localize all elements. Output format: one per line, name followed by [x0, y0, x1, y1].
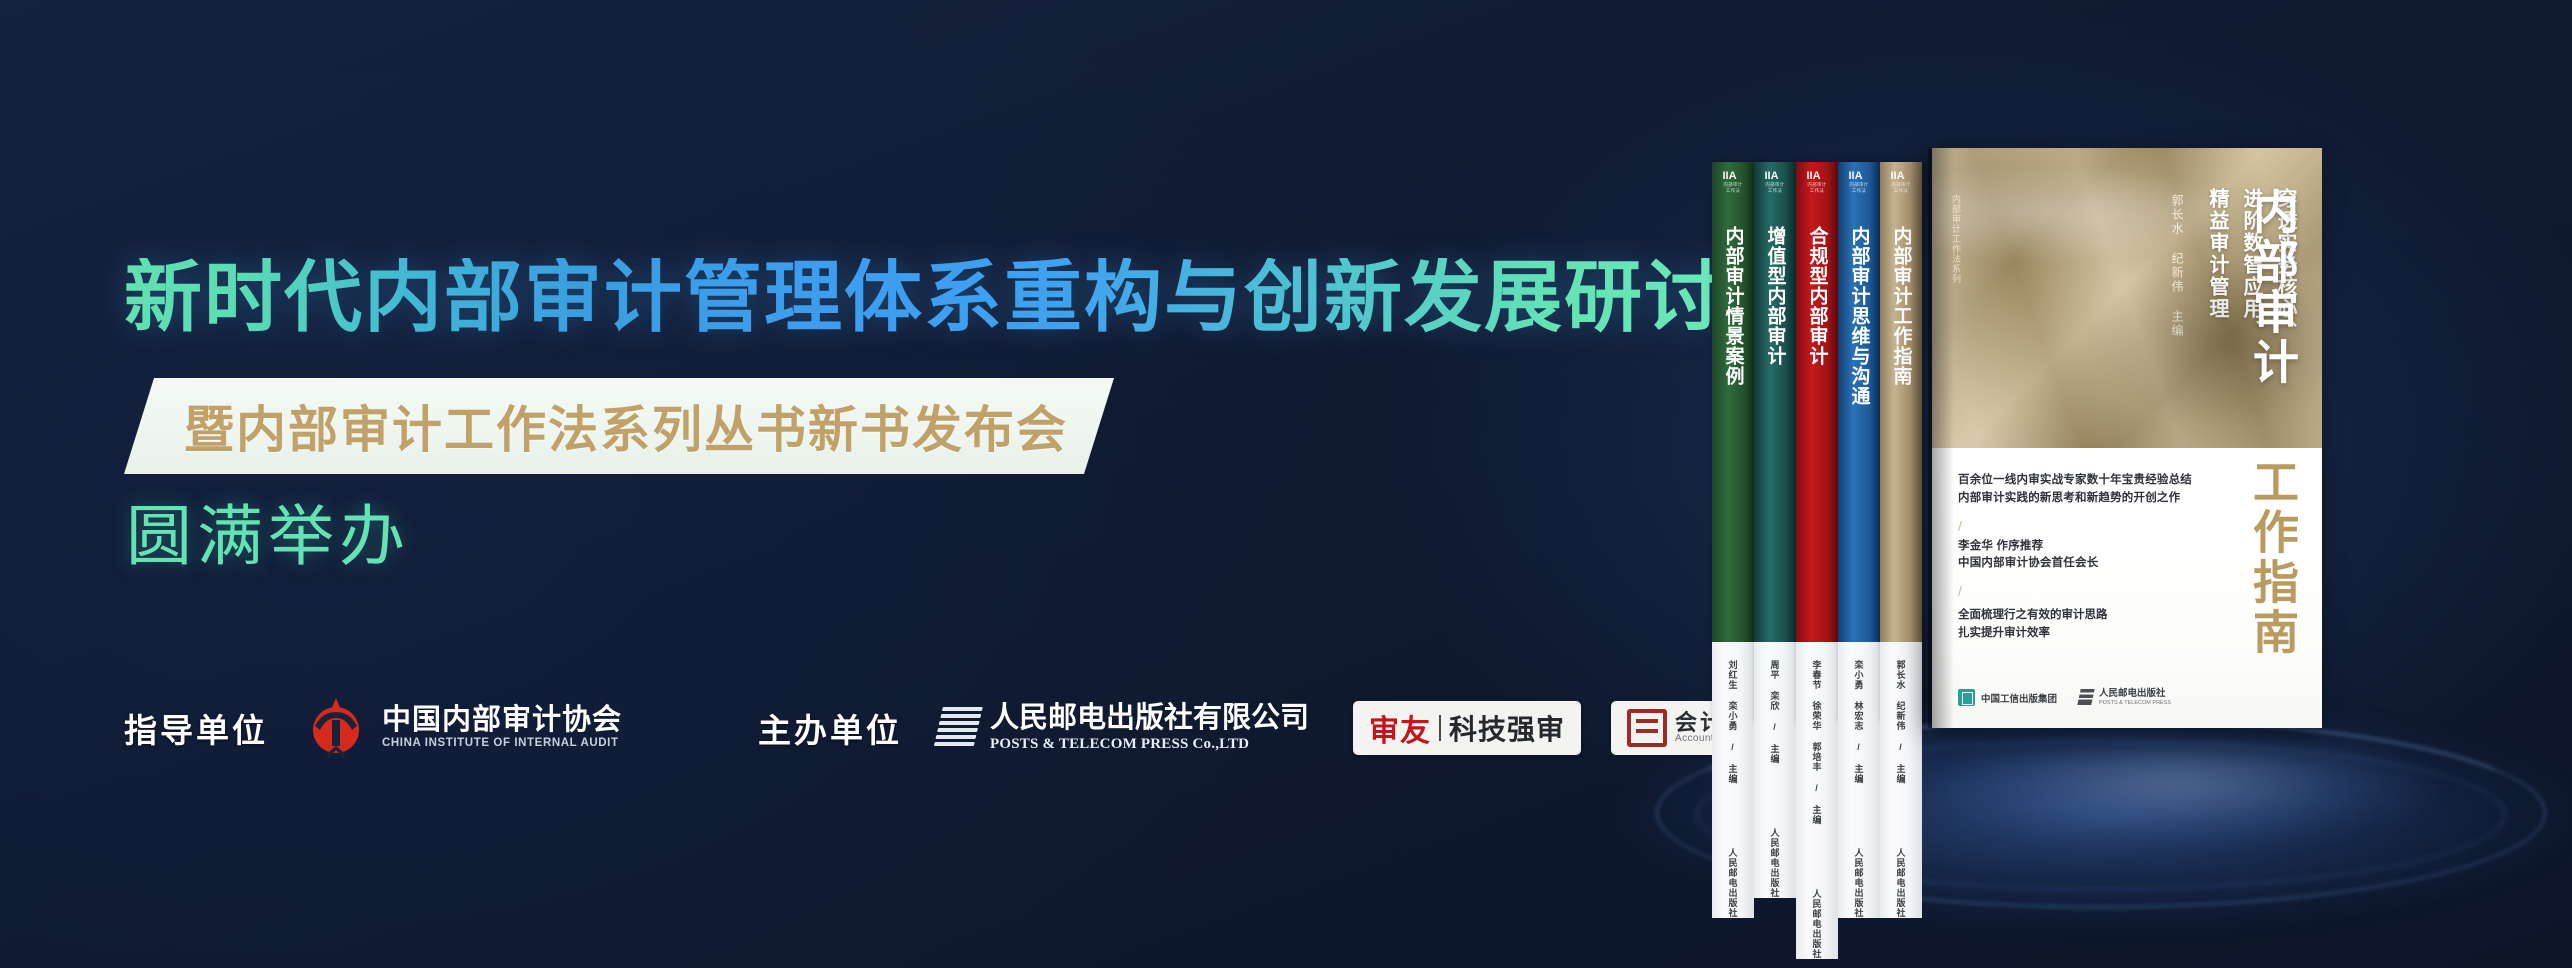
cover-publisher-house: 人民邮电出版社 [2099, 689, 2171, 699]
slash-divider-icon: / [1958, 583, 2208, 599]
cover-benefit-line2: 扎实提升审计效率 [1958, 624, 2208, 642]
ciia-name-cn: 中国内部审计协会 [382, 705, 622, 736]
host-unit-label: 主办单位 [758, 704, 902, 752]
book-spine: IIA内部审计工作法 内部审计工作指南 郭长水 纪新伟 / 主编 人民邮电出版社 [1880, 162, 1922, 722]
book-spines: IIA内部审计工作法 内部审计情景案例 刘红生 栾小勇 / 主编 人民邮电出版社… [1712, 162, 1922, 722]
spine-author: 栾小勇 林宏志 / 主编 [1853, 660, 1866, 784]
shenyou-slogan: 科技强审 [1449, 708, 1565, 748]
book-spine: IIA内部审计工作法 合规型内部审计 李春节 徐荣华 郭培丰 / 主编 人民邮电… [1796, 162, 1838, 722]
ciia-logo: 中国内部审计协会 CHINA INSTITUTE OF INTERNAL AUD… [304, 696, 622, 760]
spine-title: 增值型内部审计 [1762, 226, 1789, 642]
cover-title-bottom: 工作指南 [2240, 458, 2306, 658]
spine-title: 合规型内部审计 [1804, 226, 1831, 642]
divider [1439, 715, 1441, 741]
spine-author: 刘红生 栾小勇 / 主编 [1727, 660, 1740, 784]
cover-publisher-row: 中国工信出版集团 人民邮电出版社 POSTS & TELECOM PRESS [1958, 689, 2171, 706]
ptpress-stripes-icon [933, 705, 984, 751]
iia-brand-icon: IIA内部审计工作法 [1723, 170, 1744, 194]
ptpress-logo: 人民邮电出版社有限公司 POSTS & TELECOM PRESS Co.,LT… [938, 703, 1309, 753]
iia-brand-icon: IIA内部审计工作法 [1891, 170, 1912, 194]
tong-square-icon [1627, 709, 1667, 747]
cover-blurb-line2: 内部审计实践的新思考和新趋势的开创之作 [1958, 490, 2208, 508]
spine-publisher: 人民邮电出版社 [1811, 889, 1824, 959]
cover-tagline: 精益审计管理 [2203, 188, 2232, 320]
subtitle-text: 暨内部审计工作法系列丛书新书发布会 [184, 390, 1068, 462]
iia-brand-icon: IIA内部审计工作法 [1765, 170, 1786, 194]
cover-benefits: 全面梳理行之有效的审计思路 扎实提升审计效率 [1958, 606, 2208, 643]
cover-recommender-title: 中国内部审计协会首任会长 [1958, 555, 2208, 573]
hero-tagline: 圆满举办 [126, 500, 410, 573]
cover-series-label: 内部审计工作法系列 [1950, 194, 1963, 284]
iia-brand-icon: IIA内部审计工作法 [1807, 170, 1828, 194]
guidance-unit-label: 指导单位 [124, 704, 268, 752]
spine-author: 李春节 徐荣华 郭培丰 / 主编 [1811, 660, 1824, 825]
ciia-emblem-icon [304, 696, 368, 760]
spine-title: 内部审计情景案例 [1720, 226, 1747, 642]
ptpress-name-en: POSTS & TELECOM PRESS Co.,LTD [990, 735, 1309, 753]
book-stack: IIA内部审计工作法 内部审计情景案例 刘红生 栾小勇 / 主编 人民邮电出版社… [1712, 148, 2452, 728]
shenyou-logo: 审友 科技强审 [1353, 701, 1581, 755]
book-spine: IIA内部审计工作法 内部审计思维与沟通 栾小勇 林宏志 / 主编 人民邮电出版… [1838, 162, 1880, 722]
cover-benefit-line1: 全面梳理行之有效的审计思路 [1958, 606, 2208, 624]
ptpress-mark-icon [2077, 689, 2094, 705]
book-front-cover: 内部审计工作法系列 精益审计管理 进阶数智应用、 穿透实务核心、 郭长水 纪新伟… [1932, 148, 2322, 728]
spine-title: 内部审计工作指南 [1888, 226, 1915, 642]
ptpress-name-cn: 人民邮电出版社有限公司 [990, 703, 1309, 735]
spine-title: 内部审计思维与沟通 [1846, 226, 1873, 642]
shenyou-brand: 审友 [1369, 706, 1431, 750]
cover-publisher-house-en: POSTS & TELECOM PRESS [2099, 700, 2171, 706]
page-title: 新时代内部审计管理体系重构与创新发展研讨会 [124, 258, 1804, 336]
banner-stage: 新时代内部审计管理体系重构与创新发展研讨会 暨内部审计工作法系列丛书新书发布会 … [0, 0, 2572, 968]
cover-upper-panel: 内部审计工作法系列 精益审计管理 进阶数智应用、 穿透实务核心、 郭长水 纪新伟… [1932, 148, 2322, 448]
book-spine: IIA内部审计工作法 内部审计情景案例 刘红生 栾小勇 / 主编 人民邮电出版社 [1712, 162, 1754, 722]
spine-publisher: 人民邮电出版社 [1769, 828, 1782, 898]
ciit-group-icon [1958, 689, 1975, 706]
cover-publisher-group: 中国工信出版集团 [1981, 691, 2057, 705]
cover-title-top: 内部审计 [2240, 188, 2306, 388]
spine-publisher: 人民邮电出版社 [1895, 848, 1908, 918]
cover-blurb-line1: 百余位一线内审实战专家数十年宝贵经验总结 [1958, 472, 2208, 490]
slash-divider-icon: / [1958, 518, 2208, 534]
ciia-name-en: CHINA INSTITUTE OF INTERNAL AUDIT [382, 736, 622, 751]
spine-publisher: 人民邮电出版社 [1853, 848, 1866, 918]
spine-author: 周平 栾欣 / 主编 [1769, 660, 1782, 764]
hero-copy: 新时代内部审计管理体系重构与创新发展研讨会 暨内部审计工作法系列丛书新书发布会 … [124, 0, 1604, 968]
book-spine: IIA内部审计工作法 增值型内部审计 周平 栾欣 / 主编 人民邮电出版社 [1754, 162, 1796, 722]
iia-brand-icon: IIA内部审计工作法 [1849, 170, 1870, 194]
cover-authors: 郭长水 纪新伟 主编 [2169, 194, 2186, 338]
subtitle-ribbon: 暨内部审计工作法系列丛书新书发布会 [124, 378, 1114, 474]
spine-author: 郭长水 纪新伟 / 主编 [1895, 660, 1908, 784]
partner-strip: 指导单位 中国内部审计协会 CHINA INSTI [124, 690, 1791, 766]
cover-recommender: 李金华 作序推荐 [1958, 538, 2208, 556]
cover-blurb: 百余位一线内审实战专家数十年宝贵经验总结 内部审计实践的新思考和新趋势的开创之作… [1958, 472, 2208, 603]
spine-publisher: 人民邮电出版社 [1727, 848, 1740, 918]
